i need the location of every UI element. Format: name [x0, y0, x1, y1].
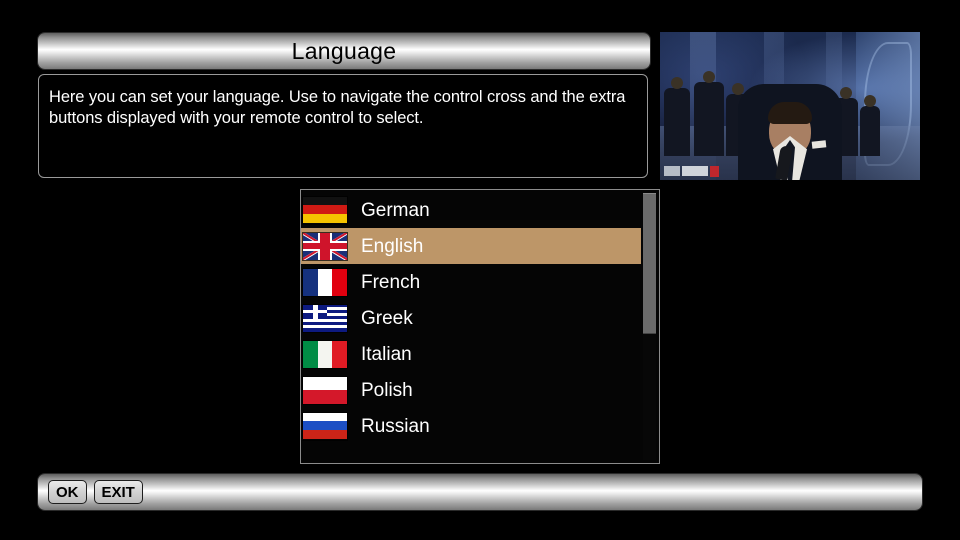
list-item[interactable]: French	[301, 264, 641, 300]
list-item[interactable]: English	[301, 228, 641, 264]
list-item-label: Italian	[361, 345, 412, 364]
logo-wordmark	[682, 166, 708, 176]
crowd-figure	[694, 82, 724, 156]
flag-icon-french	[303, 269, 347, 296]
list-item[interactable]: Russian	[301, 408, 641, 444]
crowd-figure	[664, 88, 690, 156]
list-item-label: Polish	[361, 381, 413, 400]
flag-icon-russian	[303, 413, 347, 440]
list-item[interactable]: German	[301, 192, 641, 228]
list-item[interactable]: Polish	[301, 372, 641, 408]
video-frame	[660, 32, 920, 180]
list-item-label: Greek	[361, 309, 413, 328]
channel-logo	[664, 165, 719, 177]
flag-icon-polish	[303, 377, 347, 404]
language-list: German English	[301, 192, 641, 444]
exit-button[interactable]: EXIT	[94, 480, 143, 504]
list-item[interactable]: Italian	[301, 336, 641, 372]
scrollbar-track[interactable]	[643, 193, 656, 460]
list-item-label: Russian	[361, 417, 430, 436]
crowd-figure	[860, 106, 880, 156]
flag-icon-english	[303, 233, 347, 260]
scrollbar-thumb[interactable]	[643, 193, 656, 334]
flag-icon-german	[303, 197, 347, 224]
tv-settings-screen: Language Here you can set your language.…	[0, 0, 960, 540]
logo-mark	[664, 166, 680, 176]
logo-accent	[710, 166, 719, 177]
video-preview[interactable]	[660, 32, 920, 180]
pocket-square	[812, 140, 827, 148]
help-text: Here you can set your language. Use to n…	[49, 87, 635, 129]
flag-icon-greek	[303, 305, 347, 332]
help-text-box: Here you can set your language. Use to n…	[38, 74, 648, 178]
list-item-label: French	[361, 273, 420, 292]
language-list-panel[interactable]: German English	[300, 189, 660, 464]
list-item-label: German	[361, 201, 430, 220]
reporter-figure	[738, 84, 842, 180]
flag-icon-italian	[303, 341, 347, 368]
page-title: Language	[292, 40, 397, 63]
list-item[interactable]: Greek	[301, 300, 641, 336]
title-bar: Language	[38, 33, 650, 69]
bottom-action-bar: OK EXIT	[38, 474, 922, 510]
ok-button[interactable]: OK	[48, 480, 87, 504]
list-item-label: English	[361, 237, 423, 256]
reporter-hair	[768, 102, 812, 124]
